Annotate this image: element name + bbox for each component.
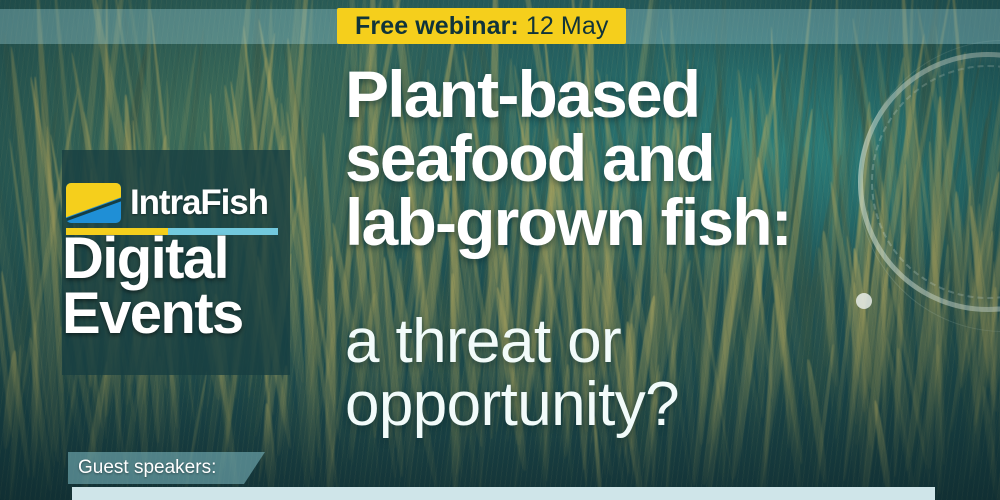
hero-subtitle: a threat or opportunity? [345, 310, 965, 436]
digital-events-line-2: Events [62, 286, 292, 341]
hero-title-line-1: Plant-based [345, 62, 965, 126]
digital-events-title: Digital Events [62, 231, 292, 341]
intrafish-flag-logo-icon [66, 183, 121, 223]
guest-speakers-ribbon: Guest speakers: [68, 452, 265, 484]
hero-title-line-3: lab-grown fish: [345, 190, 965, 254]
hero-title-line-2: seafood and [345, 126, 965, 190]
hero-subtitle-line-2: opportunity? [345, 373, 965, 436]
hero-title: Plant-based seafood and lab-grown fish: [345, 62, 965, 254]
badge-bold-text: Free webinar: [355, 12, 519, 41]
intrafish-logo[interactable]: IntraFish [66, 183, 268, 223]
webinar-promo-banner: Free webinar: 12 May IntraFish Digital E… [0, 0, 1000, 500]
free-webinar-badge[interactable]: Free webinar: 12 May [337, 8, 626, 44]
badge-date-text: 12 May [526, 12, 609, 41]
digital-events-line-1: Digital [62, 231, 292, 286]
hero-subtitle-line-1: a threat or [345, 310, 965, 373]
guest-speakers-label: Guest speakers: [68, 457, 216, 479]
guest-speakers-panel [72, 487, 935, 500]
intrafish-wordmark: IntraFish [130, 183, 268, 223]
